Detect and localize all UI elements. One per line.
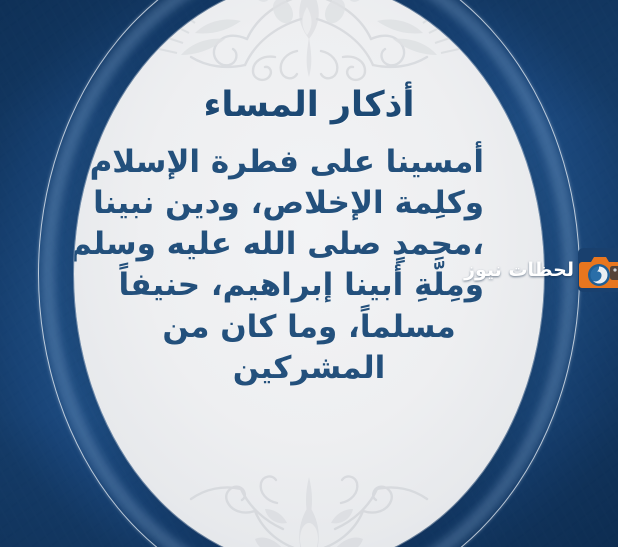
dhikr-line: ومِلَّةِ أبينا إبراهيم، حنيفاً [134,265,484,306]
poster-canvas: أذكار المساء أمسينا على فطرة الإسلام وكل… [0,0,618,547]
dhikr-line: المشركين [134,348,484,389]
dhikr-line: وكلِمة الإخلاص، ودين نبينا [134,183,484,224]
poster-text-block: أذكار المساء أمسينا على فطرة الإسلام وكل… [74,85,544,390]
dhikr-body: أمسينا على فطرة الإسلام وكلِمة الإخلاص، … [134,142,484,389]
dhikr-line: أمسينا على فطرة الإسلام [134,142,484,183]
dhikr-line: ،محمدٍ صلى الله عليه وسلم [134,224,484,265]
content-oval: أذكار المساء أمسينا على فطرة الإسلام وكل… [74,0,544,547]
page-title: أذكار المساء [134,85,484,126]
dhikr-line: مسلماً، وما كان من [134,307,484,348]
